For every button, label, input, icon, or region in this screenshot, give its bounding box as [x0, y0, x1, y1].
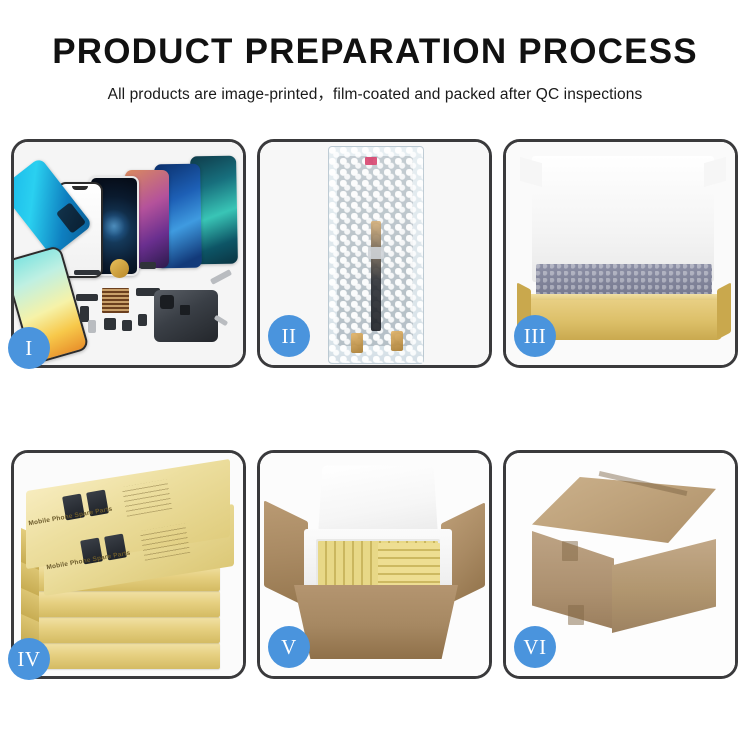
phone-back-housing	[154, 290, 218, 342]
phone-screens-scene	[14, 142, 243, 365]
box-stack: Mobile Phone Spare Parts Mobile Phone Sp…	[20, 475, 242, 671]
page-title: PRODUCT PREPARATION PROCESS	[0, 34, 750, 71]
carton-front-panel	[294, 585, 458, 659]
step-badge-5: V	[268, 626, 310, 668]
step-image-1	[14, 142, 243, 365]
gold-contact-left	[351, 333, 363, 353]
flex-cable	[371, 221, 381, 331]
process-step-grid: I II	[11, 139, 739, 679]
step-badge-6: VI	[514, 626, 556, 668]
component-bracket	[140, 262, 156, 269]
process-step-card-2[interactable]: II	[257, 139, 492, 368]
component-coil	[110, 259, 129, 278]
carton-tape-upper	[562, 541, 578, 561]
page-subtitle: All products are image-printed，film-coat…	[0, 82, 750, 104]
component-flex-a	[76, 294, 98, 301]
bubble-wrap-bag	[328, 146, 424, 364]
box-slab-5	[34, 643, 220, 669]
component-small-b	[104, 318, 116, 330]
step-image-4: Mobile Phone Spare Parts Mobile Phone Sp…	[14, 453, 243, 676]
process-step-card-5[interactable]: V	[257, 450, 492, 679]
process-step-card-6[interactable]: VI	[503, 450, 738, 679]
carton-tape-lower	[568, 605, 584, 625]
stacked-boxes-scene: Mobile Phone Spare Parts Mobile Phone Sp…	[14, 453, 243, 676]
process-step-card-3[interactable]: III	[503, 139, 738, 368]
step-badge-4: IV	[8, 638, 50, 680]
component-small-d	[138, 314, 147, 326]
step-badge-1: I	[8, 327, 50, 369]
page-header: PRODUCT PREPARATION PROCESS All products…	[0, 0, 750, 104]
packed-boxes-right	[378, 543, 440, 589]
component-strip	[74, 270, 100, 275]
step-badge-3: III	[514, 315, 556, 357]
box-slab-4	[34, 617, 220, 643]
component-chip-grid	[102, 288, 129, 313]
cable-connector	[368, 247, 384, 259]
component-small-a	[88, 320, 96, 333]
gold-contact-right	[391, 331, 403, 351]
component-small-c	[122, 320, 132, 331]
process-step-card-1[interactable]: I	[11, 139, 246, 368]
process-step-card-4[interactable]: Mobile Phone Spare Parts Mobile Phone Sp…	[11, 450, 246, 679]
box-slab-3	[34, 591, 220, 617]
pink-label	[365, 157, 377, 165]
step-badge-2: II	[268, 315, 310, 357]
product-preparation-page: PRODUCT PREPARATION PROCESS All products…	[0, 0, 750, 750]
